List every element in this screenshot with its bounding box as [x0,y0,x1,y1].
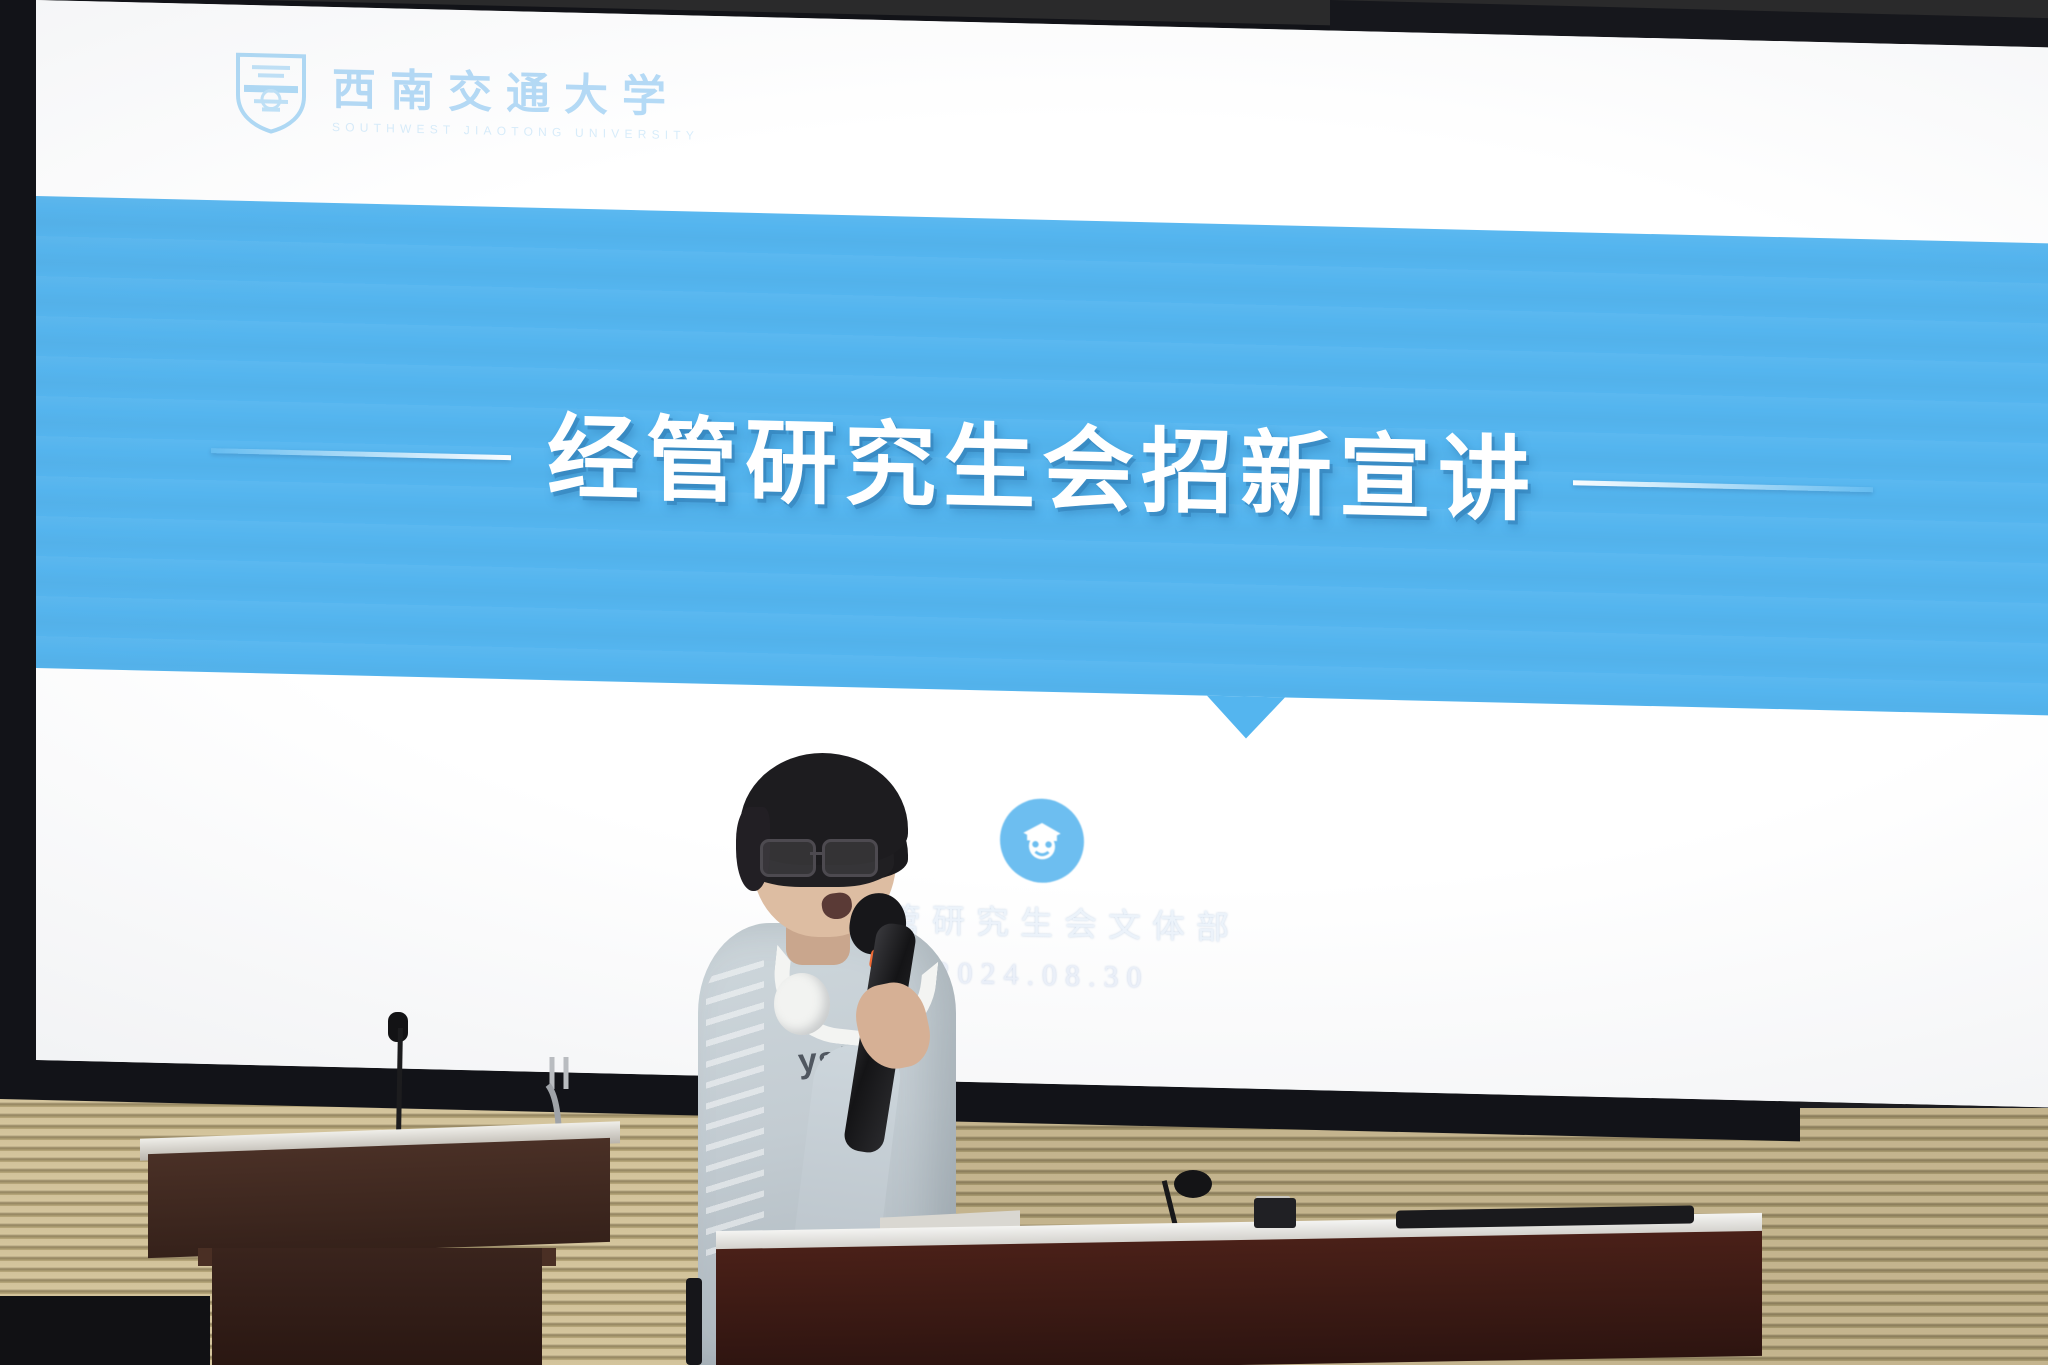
table-microphone-head [1174,1170,1212,1198]
swjtu-crest-icon [232,49,310,135]
lectern-base [212,1248,542,1365]
projection-screen: 西南交通大学 SOUTHWEST JIAOTONG UNIVERSITY 经管研… [36,0,2048,1107]
shirt-shoulder-stripes [706,957,764,1267]
presentation-photo-scene: 西南交通大学 SOUTHWEST JIAOTONG UNIVERSITY 经管研… [0,0,2048,1365]
band-chevron-notch [1207,696,1285,740]
headphone-earcup [774,973,830,1035]
table-body [716,1231,1762,1365]
title-rule-left [211,448,511,460]
glasses-lens-right [822,839,878,877]
lectern-body [148,1138,610,1258]
presentation-slide: 西南交通大学 SOUTHWEST JIAOTONG UNIVERSITY 经管研… [36,0,2048,1107]
university-wordmark: 西南交通大学 SOUTHWEST JIAOTONG UNIVERSITY [332,52,699,142]
table-device-box [1254,1198,1296,1228]
glasses-lens-left [760,839,816,877]
slide-title: 经管研究生会招新宣讲 [547,412,1537,527]
slide-footer: 经管研究生会文体部 2024.08.30 [36,775,2048,1016]
floor-cable [686,1278,702,1365]
stage-riser-shadow [0,1296,210,1365]
eyeglasses-icon [760,839,892,873]
panda-graduate-icon [1000,798,1084,884]
title-rule-right [1573,480,1873,492]
university-logo: 西南交通大学 SOUTHWEST JIAOTONG UNIVERSITY [232,49,699,144]
university-name-cn: 西南交通大学 [332,52,699,125]
